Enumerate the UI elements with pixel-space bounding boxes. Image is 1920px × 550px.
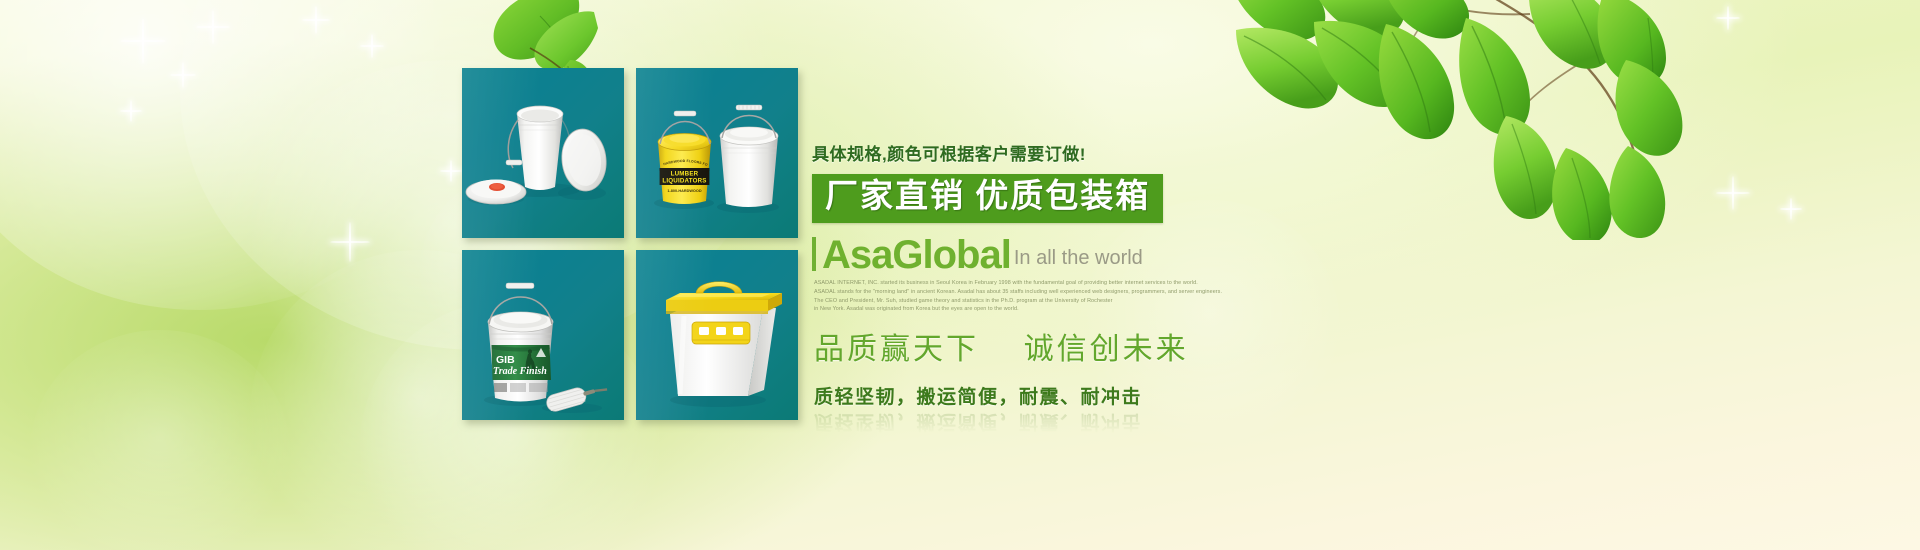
brand-tagline-text: In all the world (1014, 247, 1143, 270)
brand-accent-bar (812, 237, 816, 271)
slogan-left-text: 品质赢天下 (814, 333, 979, 366)
sparkle-icon (1716, 176, 1750, 210)
sparkle-icon (1716, 6, 1740, 30)
sparkle-icon (1780, 198, 1802, 220)
sparkle-icon (120, 18, 166, 64)
bokeh-circle (0, 0, 460, 310)
product-panel-1[interactable]: 白色塑料桶与桶盖 (462, 68, 624, 238)
brand-name-text: AsaGlobal (822, 236, 1011, 275)
sparkle-icon (360, 34, 384, 58)
main-slogan: 品质赢天下 诚信创未来 (814, 324, 1412, 368)
sparkle-icon (440, 160, 462, 182)
feature-slogan: 质轻坚韧，搬运简便，耐震、耐冲击 (814, 382, 1412, 409)
spec-note-text: 具体规格,颜色可根据客户需要订做! (812, 140, 1412, 165)
product-image-grid: 白色塑料桶与桶盖 (462, 68, 798, 414)
fineprint-line: The CEO and President, Mr. Suh, studied … (814, 297, 1229, 306)
product-panel-4[interactable]: 黄盖白身方形提箱 (636, 250, 798, 420)
feature-slogan-reflection: 质轻坚韧，搬运简便，耐震、耐冲击 (814, 410, 1412, 437)
headline-banner: 厂家直销 优质包装箱 (812, 174, 1163, 223)
sparkle-icon (170, 62, 196, 88)
company-fineprint: ASADAL INTERNET, INC. started its busine… (814, 279, 1229, 314)
fineprint-line: in New York. Asadal was originated from … (814, 305, 1229, 314)
sparkle-icon (302, 6, 330, 34)
bokeh-circle (30, 330, 290, 550)
promo-banner: 白色塑料桶与桶盖 (0, 0, 1920, 550)
banner-copy-block: 具体规格,颜色可根据客户需要订做! 厂家直销 优质包装箱 AsaGlobal I… (812, 140, 1412, 437)
brand-row: AsaGlobal In all the world (812, 236, 1412, 275)
product-panel-2[interactable]: 黄色与白色提手塑料桶 (636, 68, 798, 238)
fineprint-line: ASADAL stands for the "morning land" in … (814, 288, 1229, 297)
headline-text: 厂家直销 优质包装箱 (825, 179, 1150, 215)
sparkle-icon (196, 10, 230, 44)
sparkle-icon (1622, 8, 1652, 38)
slogan-right-text: 诚信创未来 (1024, 333, 1189, 366)
sparkle-icon (120, 100, 142, 122)
product-panel-3[interactable]: GIB 涂料桶与滚筒 (462, 250, 624, 420)
sparkle-icon (330, 222, 370, 262)
fineprint-line: ASADAL INTERNET, INC. started its busine… (814, 279, 1229, 288)
